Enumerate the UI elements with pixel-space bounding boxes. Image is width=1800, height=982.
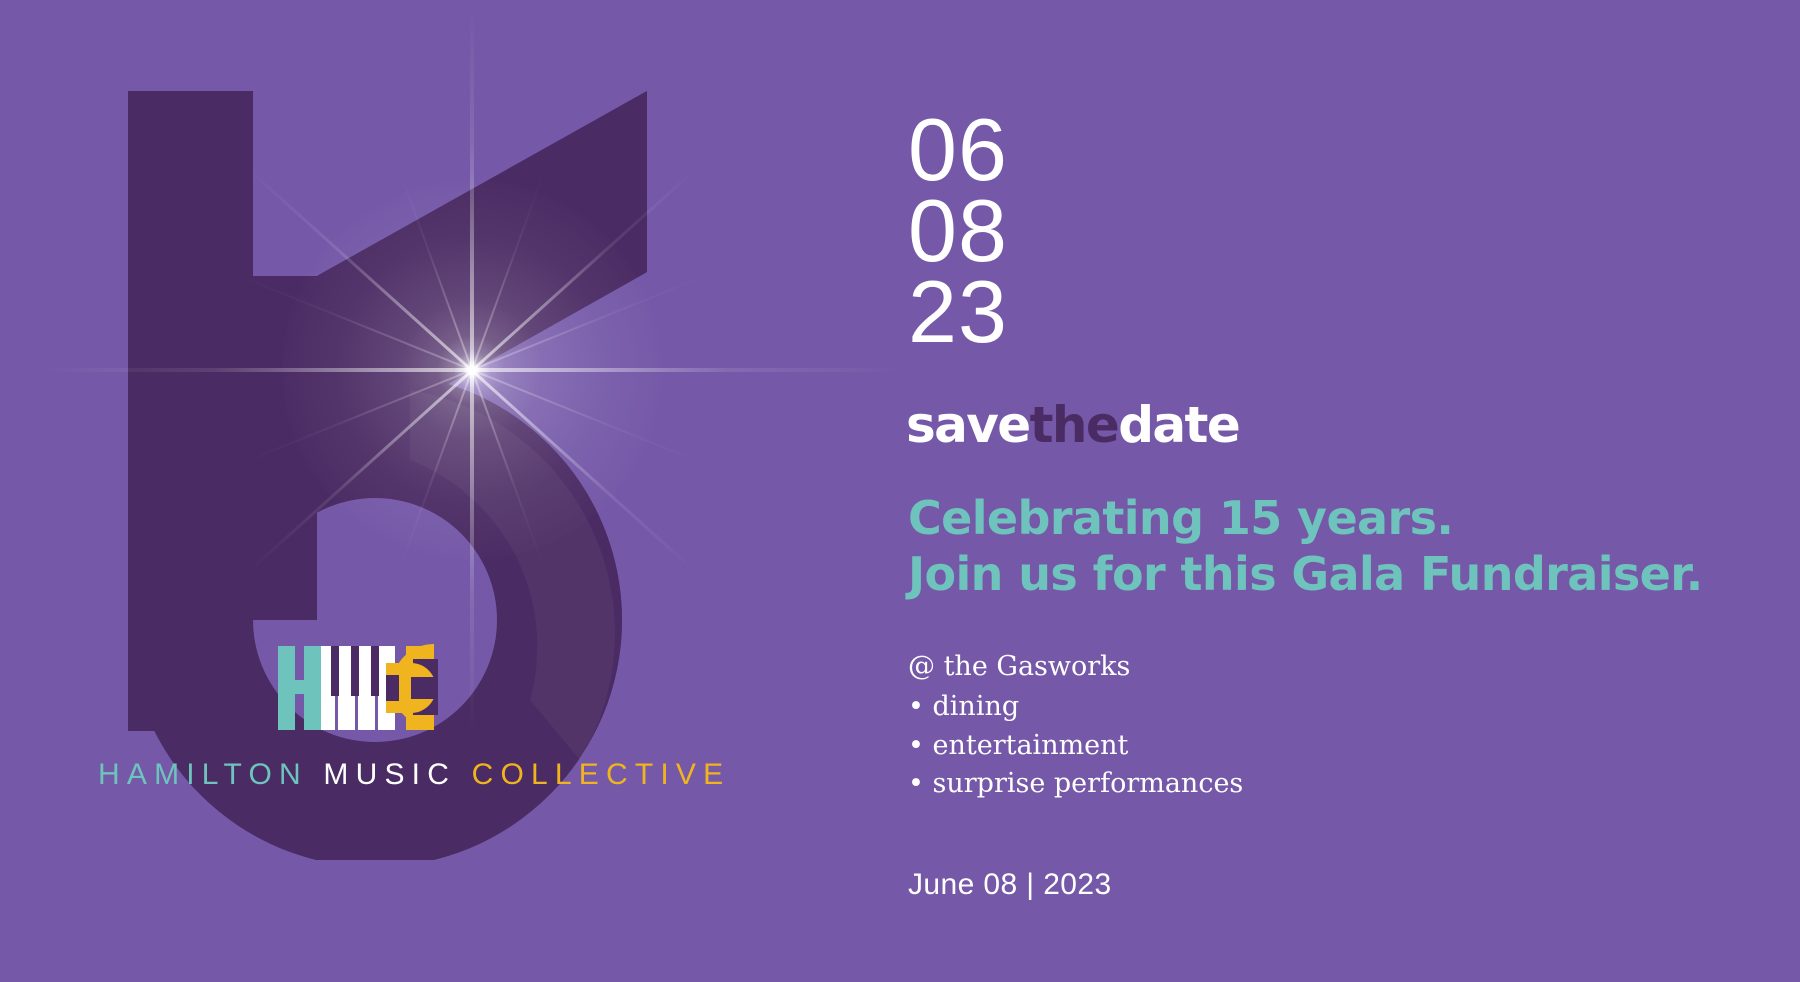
detail-item: • entertainment	[908, 727, 1243, 765]
detail-item: • surprise performances	[908, 765, 1243, 803]
wordmark-collective: COLLECTIVE	[472, 758, 731, 791]
save-the-date-lockup: savethedate	[906, 400, 1239, 450]
date-year: 23	[908, 272, 1008, 353]
hmc-piano-key-mark-icon	[274, 642, 438, 730]
event-details-list: @ the Gasworks • dining • entertainment …	[908, 648, 1243, 803]
headline: Celebrating 15 years. Join us for this G…	[908, 490, 1703, 602]
date-stack: 06 08 23	[908, 110, 1008, 353]
wordmark: HAMILTON MUSIC COLLECTIVE	[98, 760, 718, 790]
wordmark-music: MUSIC	[323, 758, 456, 791]
date-day: 06	[908, 110, 1008, 191]
std-save: save	[906, 396, 1030, 454]
wordmark-hamilton: HAMILTON	[98, 758, 308, 791]
std-the: the	[1030, 396, 1119, 454]
save-the-date-poster: HAMILTON MUSIC COLLECTIVE 06 08 23 savet…	[0, 0, 1800, 982]
date-month: 08	[908, 191, 1008, 272]
headline-line-1: Celebrating 15 years.	[908, 490, 1703, 546]
detail-venue: @ the Gasworks	[908, 648, 1243, 686]
event-info-column: 06 08 23 savethedate Celebrating 15 year…	[908, 0, 1800, 982]
headline-line-2: Join us for this Gala Fundraiser.	[908, 546, 1703, 602]
logo-lockup: HAMILTON MUSIC COLLECTIVE	[0, 0, 780, 982]
std-date: date	[1118, 396, 1239, 454]
fifteen-monogram-icon	[110, 60, 710, 860]
footer-date: June 08 | 2023	[908, 868, 1112, 902]
detail-item: • dining	[908, 688, 1243, 726]
